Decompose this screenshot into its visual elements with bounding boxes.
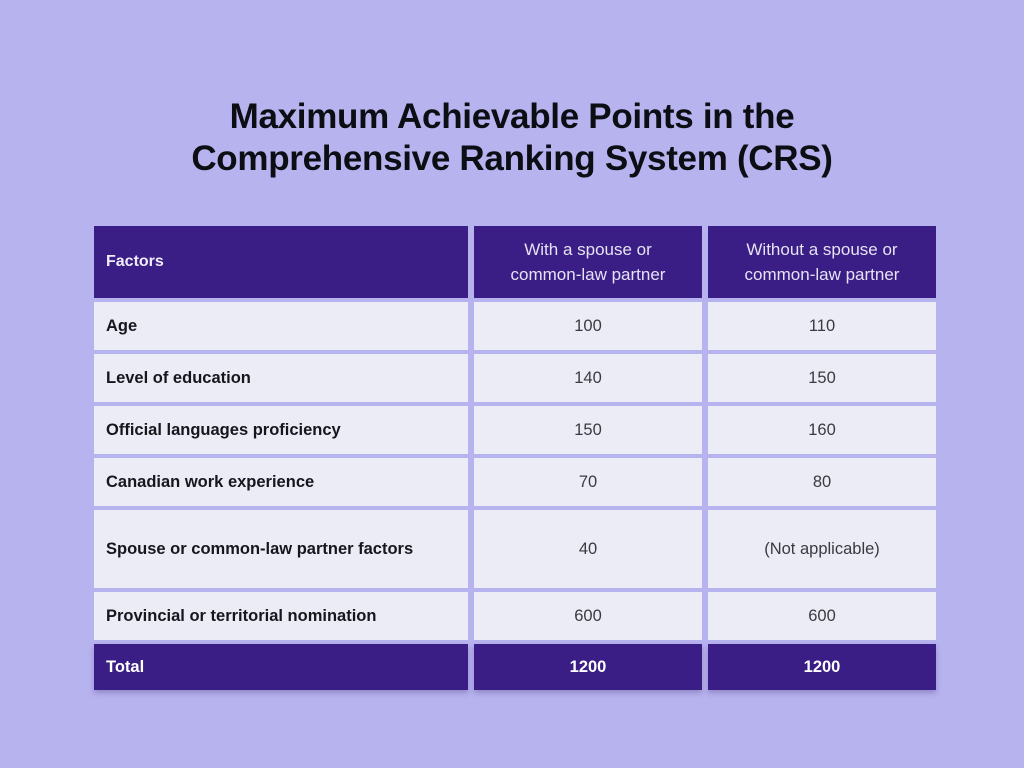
- row-factor-cell: Official languages proficiency: [94, 406, 468, 454]
- row-without-spouse-value: 110: [708, 302, 936, 350]
- page-title: Maximum Achievable Points in the Compreh…: [0, 96, 1024, 180]
- header-with-spouse-line-1: With a spouse or: [524, 237, 652, 262]
- row-with-spouse-value: 600: [474, 592, 702, 640]
- infographic-page: Maximum Achievable Points in the Compreh…: [0, 0, 1024, 768]
- row-with-spouse-value: 140: [474, 354, 702, 402]
- row-without-spouse-cell: 80: [708, 458, 936, 506]
- header-cell-factors: Factors: [94, 226, 468, 298]
- row-factor-label: Official languages proficiency: [94, 406, 468, 454]
- row-with-spouse-value: 40: [474, 510, 702, 588]
- total-label: Total: [94, 644, 468, 690]
- row-with-spouse-value: 100: [474, 302, 702, 350]
- row-factor-cell: Age: [94, 302, 468, 350]
- row-with-spouse-cell: 40: [474, 510, 702, 588]
- row-without-spouse-cell: 110: [708, 302, 936, 350]
- row-without-spouse-cell: (Not applicable): [708, 510, 936, 588]
- row-factor-label: Age: [94, 302, 468, 350]
- header-label-with-spouse: With a spouse or common-law partner: [474, 226, 702, 298]
- row-with-spouse-value: 150: [474, 406, 702, 454]
- table-row: Spouse or common-law partner factors 40 …: [94, 510, 936, 588]
- table-header-row: Factors With a spouse or common-law part…: [94, 226, 936, 298]
- row-factor-cell: Provincial or territorial nomination: [94, 592, 468, 640]
- row-factor-label: Canadian work experience: [94, 458, 468, 506]
- row-without-spouse-cell: 160: [708, 406, 936, 454]
- row-factor-label: Spouse or common-law partner factors: [94, 510, 468, 588]
- row-without-spouse-value: 150: [708, 354, 936, 402]
- header-cell-without-spouse: Without a spouse or common-law partner: [708, 226, 936, 298]
- row-with-spouse-cell: 100: [474, 302, 702, 350]
- row-factor-cell: Canadian work experience: [94, 458, 468, 506]
- page-title-line-1: Maximum Achievable Points in the: [0, 96, 1024, 138]
- row-with-spouse-cell: 70: [474, 458, 702, 506]
- crs-points-table: Factors With a spouse or common-law part…: [88, 222, 942, 694]
- total-without-spouse-value: 1200: [708, 644, 936, 690]
- header-without-spouse-line-2: common-law partner: [745, 262, 900, 287]
- table-total-row: Total 1200 1200: [94, 644, 936, 690]
- row-without-spouse-value: 600: [708, 592, 936, 640]
- row-factor-label: Provincial or territorial nomination: [94, 592, 468, 640]
- total-label-cell: Total: [94, 644, 468, 690]
- total-without-spouse-cell: 1200: [708, 644, 936, 690]
- page-title-line-2: Comprehensive Ranking System (CRS): [0, 138, 1024, 180]
- row-without-spouse-cell: 600: [708, 592, 936, 640]
- total-with-spouse-cell: 1200: [474, 644, 702, 690]
- header-cell-with-spouse: With a spouse or common-law partner: [474, 226, 702, 298]
- table-row: Provincial or territorial nomination 600…: [94, 592, 936, 640]
- row-without-spouse-value: 160: [708, 406, 936, 454]
- row-with-spouse-cell: 150: [474, 406, 702, 454]
- row-without-spouse-value: (Not applicable): [708, 510, 936, 588]
- row-factor-cell: Level of education: [94, 354, 468, 402]
- row-without-spouse-cell: 150: [708, 354, 936, 402]
- row-without-spouse-value: 80: [708, 458, 936, 506]
- table-row: Official languages proficiency 150 160: [94, 406, 936, 454]
- row-factor-label: Level of education: [94, 354, 468, 402]
- header-with-spouse-line-2: common-law partner: [511, 262, 666, 287]
- crs-points-table-container: Factors With a spouse or common-law part…: [88, 222, 936, 694]
- header-label-without-spouse: Without a spouse or common-law partner: [708, 226, 936, 298]
- row-with-spouse-cell: 600: [474, 592, 702, 640]
- row-with-spouse-value: 70: [474, 458, 702, 506]
- row-factor-cell: Spouse or common-law partner factors: [94, 510, 468, 588]
- total-with-spouse-value: 1200: [474, 644, 702, 690]
- table-row: Age 100 110: [94, 302, 936, 350]
- row-with-spouse-cell: 140: [474, 354, 702, 402]
- table-row: Canadian work experience 70 80: [94, 458, 936, 506]
- table-row: Level of education 140 150: [94, 354, 936, 402]
- header-without-spouse-line-1: Without a spouse or: [746, 237, 897, 262]
- header-label-factors: Factors: [94, 226, 468, 298]
